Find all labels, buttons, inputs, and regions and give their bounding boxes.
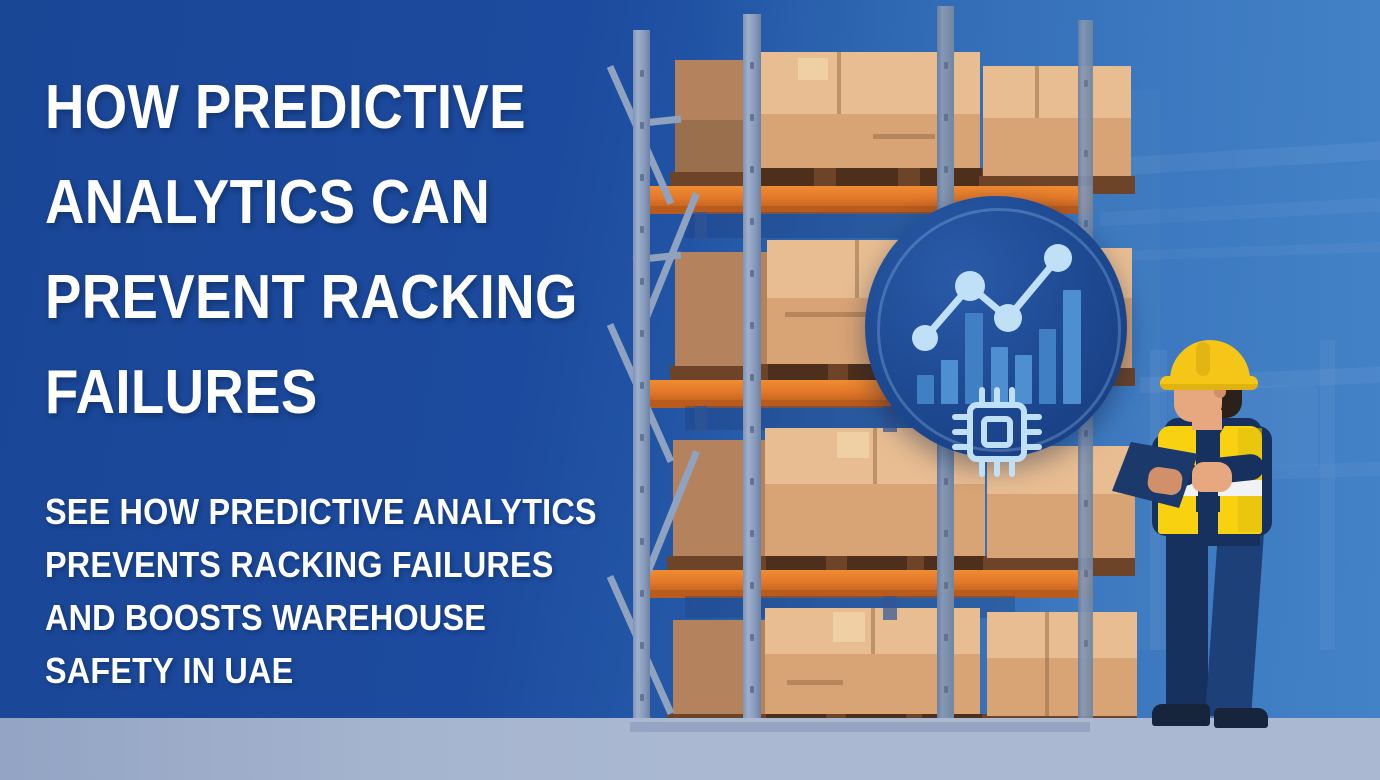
upright-hole [750,218,754,225]
box-tape-horizontal [873,134,935,139]
worker-hand-right [1192,462,1232,492]
upright-hole [640,486,644,493]
banner-image: HOW PREDICTIVE ANALYTICS CAN PREVENT RAC… [0,0,1380,780]
upright-hole [640,382,644,389]
upright-hole [750,114,754,121]
upright-hole [640,642,644,649]
upright-hole [640,70,644,77]
worker-neck [1192,410,1222,430]
warehouse-floor-shadow [0,718,700,780]
upright-hole [640,122,644,129]
box-label [833,612,865,642]
upright-hole [944,686,948,693]
rack-rear-post-1 [695,212,707,240]
box-tape [855,240,859,298]
upright-hole [944,582,948,589]
upright-hole [640,434,644,441]
worker-leg-right [1205,520,1265,716]
worker-shoe-right [1214,708,1268,728]
box-tape-vertical [837,52,841,114]
rack-rear-post-2 [695,406,707,432]
upright-hole [944,62,948,69]
worker-shoe-left [1152,704,1210,726]
rack-upright-middle [743,14,761,760]
upright-hole [750,166,754,173]
headline-line-4: FAILURES [45,345,608,440]
upright-hole [640,226,644,233]
upright-hole [944,114,948,121]
upright-hole [1084,80,1088,87]
headline-line-2: ANALYTICS CAN [45,155,608,250]
subhead-line-4: SAFETY IN UAE [45,644,639,697]
upright-hole [640,694,644,701]
box-label [798,58,828,80]
upright-hole [944,166,948,173]
cpu-chip-icon [947,382,1047,482]
ghost-rack-upright-2 [1320,340,1335,650]
worker-hard-hat-ridge [1196,342,1210,376]
page-title: HOW PREDICTIVE ANALYTICS CAN PREVENT RAC… [45,60,608,440]
worker-hard-hat-brim-shade [1160,384,1258,390]
upright-hole [750,582,754,589]
upright-hole [640,174,644,181]
worker-hand-left [1146,466,1183,496]
predictive-analytics-badge [865,196,1127,458]
upright-hole [944,530,948,537]
subhead-line-1: SEE HOW PREDICTIVE ANALYTICS [45,485,639,538]
upright-hole [750,62,754,69]
upright-hole [750,374,754,381]
warehouse-worker [1130,330,1320,780]
upright-hole [1084,640,1088,647]
box-1-right-lid [987,612,1137,658]
upright-hole [944,634,948,641]
upright-hole [1084,150,1088,157]
upright-hole [640,538,644,545]
rack-foot-shadow [630,722,1090,732]
rack-beam-2 [637,570,1092,592]
headline-line-3: PREVENT RACKING [45,250,608,345]
rack-rear-post-4 [883,596,897,620]
upright-hole [640,330,644,337]
upright-hole [640,278,644,285]
box-top-right-lid [983,66,1131,118]
worker-leg-left [1166,520,1208,712]
box-tape [787,680,843,685]
upright-hole [750,634,754,641]
upright-hole [750,686,754,693]
upright-hole [750,478,754,485]
subhead-line-3: AND BOOSTS WAREHOUSE [45,591,639,644]
box-tape [871,608,875,654]
upright-hole [1084,500,1088,507]
upright-hole [640,590,644,597]
upright-hole [750,530,754,537]
upright-hole [750,322,754,329]
upright-hole [750,426,754,433]
headline-line-1: HOW PREDICTIVE [45,60,608,155]
subhead-line-2: PREVENTS RACKING FAILURES [45,538,639,591]
box-tape [1045,612,1049,720]
upright-hole [750,270,754,277]
page-subtitle: SEE HOW PREDICTIVE ANALYTICS PREVENTS RA… [45,485,639,697]
box-tape [1035,66,1039,118]
upright-hole [1084,570,1088,577]
